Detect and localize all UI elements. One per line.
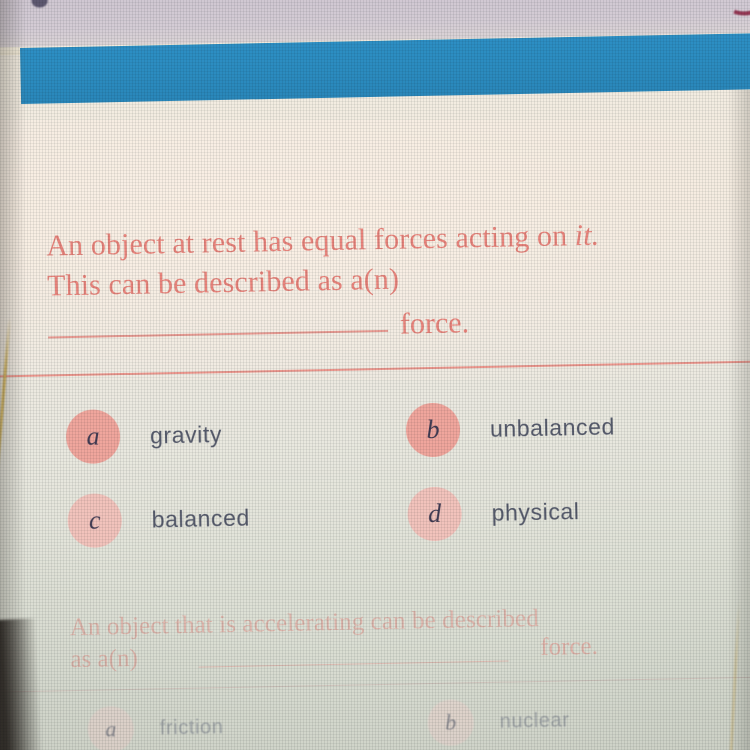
option-2a[interactable]: a friction	[87, 695, 428, 750]
document-content: An object at rest has equal forces actin…	[0, 12, 750, 750]
option-b-label: unbalanced	[490, 413, 615, 442]
option-a-badge[interactable]: a	[66, 409, 121, 464]
option-d[interactable]: d physical	[407, 475, 748, 548]
question-1-options: a gravity b unbalanced c balanced d phys…	[65, 391, 748, 554]
option-c-badge[interactable]: c	[67, 493, 122, 548]
question-1-line1-tail: it.	[574, 219, 599, 252]
question-1-blank-input[interactable]	[48, 330, 388, 339]
question-1-divider	[0, 360, 750, 377]
question-1-line1: An object at rest has equal forces actin…	[46, 219, 567, 262]
option-d-badge[interactable]: d	[407, 486, 462, 541]
option-2a-badge[interactable]: a	[87, 706, 134, 750]
option-2b-label: nuclear	[500, 709, 570, 733]
option-2b[interactable]: b nuclear	[427, 689, 750, 750]
chrome-dot-mark	[32, 0, 48, 8]
option-c-label: balanced	[151, 504, 250, 533]
option-b-badge[interactable]: b	[406, 402, 461, 457]
question-2-tail-word: force.	[540, 630, 598, 665]
option-a[interactable]: a gravity	[65, 398, 406, 471]
option-2a-label: friction	[160, 716, 224, 740]
option-d-label: physical	[491, 498, 579, 527]
question-1-tail-word: force.	[400, 306, 470, 341]
option-c[interactable]: c balanced	[67, 482, 408, 555]
question-2-lead-word: as a(n)	[70, 645, 138, 674]
question-2: An object that is accelerating can be de…	[70, 599, 750, 676]
question-2-blank-input[interactable]	[199, 661, 509, 668]
question-1-line2: This can be described as a(n)	[47, 263, 399, 303]
screenshot-root: An object at rest has equal forces actin…	[0, 0, 750, 750]
question-2-options: a friction b nuclear	[87, 689, 750, 750]
option-2b-badge[interactable]: b	[427, 699, 474, 746]
option-b[interactable]: b unbalanced	[405, 391, 746, 464]
question-1: An object at rest has equal forces actin…	[46, 213, 748, 347]
option-a-label: gravity	[150, 421, 222, 449]
